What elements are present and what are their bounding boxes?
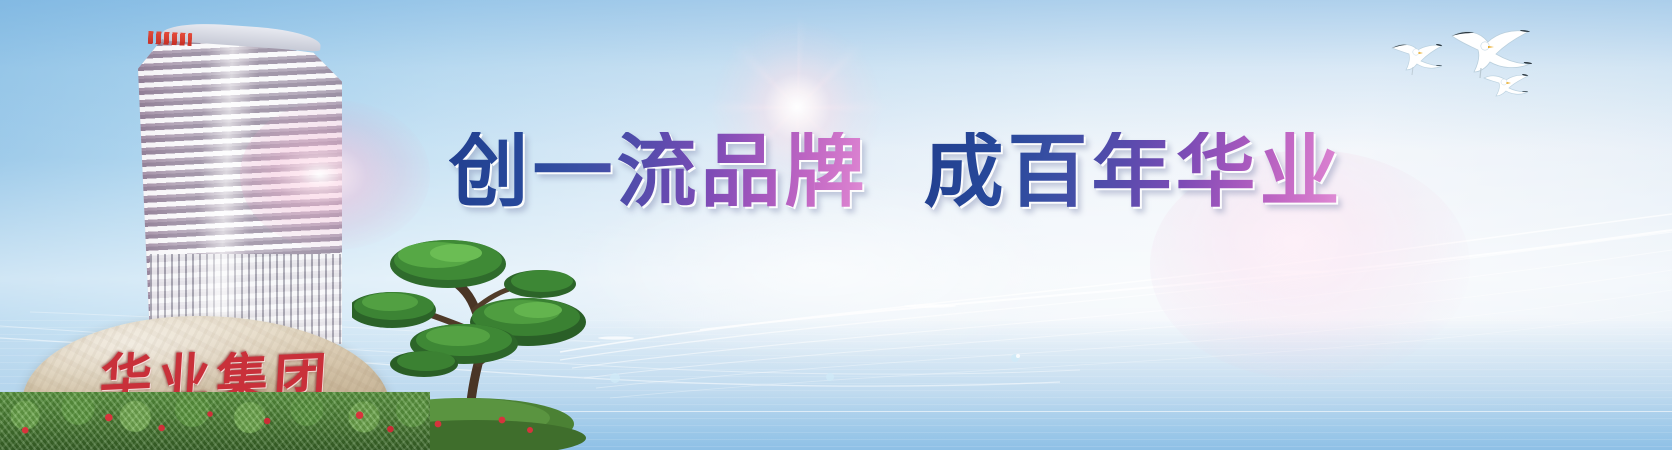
seagull-group [1380, 6, 1550, 106]
seagull-icon-large [1452, 30, 1532, 78]
company-hero-banner: 华 业 集 团 [0, 0, 1672, 450]
hedge-red-flowers [0, 392, 430, 450]
seagull-icon-small-2 [1484, 74, 1528, 96]
seagull-icon-small-1 [1392, 44, 1442, 75]
slogan-block: 创一流品牌 成百年华业 [0, 132, 1672, 212]
flower-hedge [0, 392, 430, 450]
bonsai-foliage [352, 240, 586, 377]
slogan-part-2: 成百年华业 [923, 132, 1343, 212]
slogan-part-1: 创一流品牌 [449, 132, 869, 212]
building-sign-icon [148, 31, 193, 46]
